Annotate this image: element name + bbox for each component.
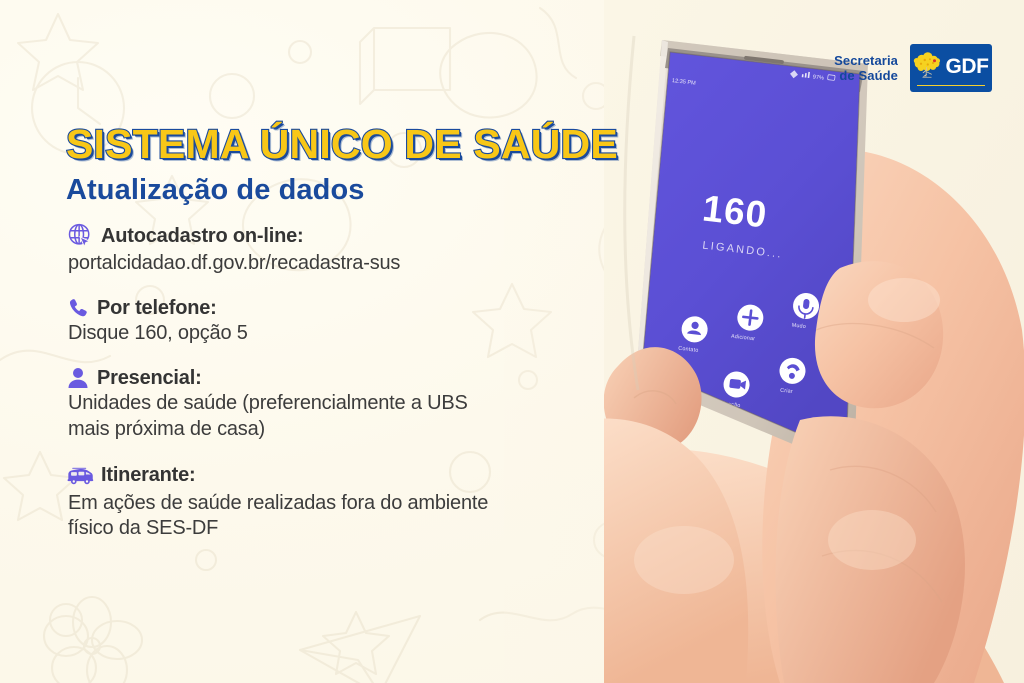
item-heading: Presencial: — [66, 366, 641, 390]
item-label: Itinerante: — [101, 464, 195, 487]
item-label: Presencial: — [97, 367, 202, 390]
globe-cursor-icon — [66, 222, 94, 250]
item-body: Em ações de saúde realizadas fora do amb… — [68, 491, 641, 541]
secretaria-de-saude-label: Secretaria de Saúde — [834, 53, 898, 84]
item-label: Autocadastro on-line: — [101, 225, 303, 248]
ipe-tree-icon — [912, 51, 942, 81]
list-item-itinerante: Itinerante: Em ações de saúde realizadas… — [66, 462, 641, 541]
item-body: Disque 160, opção 5 — [68, 321, 641, 346]
item-heading: Por telefone: — [66, 296, 641, 320]
hand-holding-phone-photo: 12:35 PM 97% — [604, 0, 1024, 683]
page-title: SISTEMA ÚNICO DE SAÚDE — [66, 124, 618, 165]
list-item-autocadastro: Autocadastro on-line: portalcidadao.df.g… — [66, 222, 641, 276]
headline: SISTEMA ÚNICO DE SAÚDE Atualização de da… — [66, 124, 618, 205]
poster-canvas: 12:35 PM 97% — [0, 0, 1024, 683]
item-body: portalcidadao.df.gov.br/recadastra-sus — [68, 251, 641, 276]
channels-list: Autocadastro on-line: portalcidadao.df.g… — [66, 222, 641, 541]
item-heading: Itinerante: — [66, 462, 641, 490]
logo-block: Secretaria de Saúde GDF — [834, 44, 992, 92]
list-item-telefone: Por telefone: Disque 160, opção 5 — [66, 296, 641, 346]
status-battery: 97% — [812, 74, 824, 81]
list-item-presencial: Presencial: Unidades de saúde (preferenc… — [66, 366, 641, 441]
gdf-wordmark: GDF — [945, 56, 988, 77]
dialed-number: 160 — [700, 187, 769, 235]
gdf-underline — [917, 85, 985, 87]
phone-handset-icon — [66, 296, 90, 320]
page-subtitle: Atualização de dados — [66, 176, 618, 205]
item-heading: Autocadastro on-line: — [66, 222, 641, 250]
gdf-logo-badge: GDF — [910, 44, 992, 92]
item-body: Unidades de saúde (preferencialmente a U… — [68, 391, 641, 441]
van-icon — [66, 462, 94, 490]
person-icon — [66, 366, 90, 390]
item-label: Por telefone: — [97, 297, 217, 320]
